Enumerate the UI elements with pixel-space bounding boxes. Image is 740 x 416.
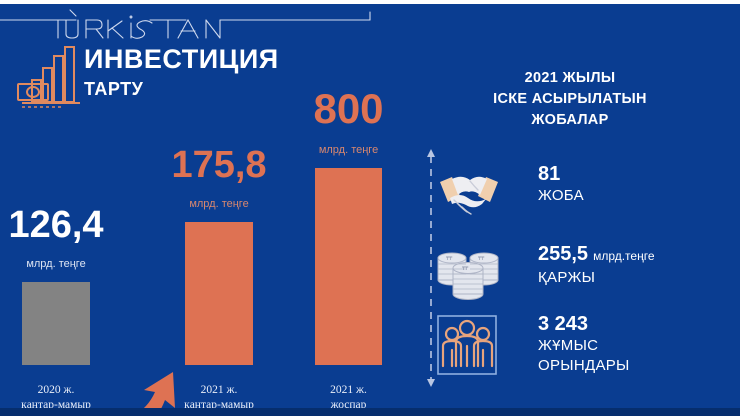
panel-title: 2021 ЖЫЛЫ ІСКЕ АСЫРЫЛАТЫН ЖОБАЛАР [400,68,740,131]
page-title: ИНВЕСТИЦИЯ ТАРТУ [84,44,279,101]
stat-label: ЖОБА [538,186,584,206]
people-group-icon [430,310,508,378]
panel-title-line-2: ІСКЕ АСЫРЫЛАТЫН [493,91,647,107]
svg-text:₸₸: ₸₸ [478,256,485,262]
turkistan-wordmark [0,4,400,40]
bar-value-label: 126,4 [8,204,103,247]
projects-panel: 2021 ЖЫЛЫ ІСКЕ АСЫРЫЛАТЫН ЖОБАЛАР [400,0,740,416]
stat-workplaces: 3 243 ЖҰМЫС ОРЫНДАРЫ [430,310,740,382]
coins-stack-icon: ₸₸₸₸₸₸ [430,240,508,308]
bar-rect [185,222,253,365]
handshake-icon [430,160,508,228]
investment-bar-chart: 126,4 млрд. теңге 2020 ж. қаңтар-мамыр 1… [0,120,400,416]
infographic-slide: ИНВЕСТИЦИЯ ТАРТУ 126,4 млрд. теңге 2020 … [0,0,740,416]
bar-value-label: 175,8 [171,144,266,187]
stat-number: 255,5 [538,242,588,266]
panel-title-line-3: ЖОБАЛАР [531,112,608,128]
svg-text:₸₸: ₸₸ [446,256,453,262]
bar-rect [315,168,382,365]
svg-text:₸₸: ₸₸ [462,266,469,272]
bar-category-line-1: 2021 ж. [201,384,238,396]
bar-unit-label: млрд. теңге [319,144,378,156]
growing-bars-money-icon [12,42,86,112]
stat-label-line-1: ЖҰМЫС [538,337,598,354]
bar-category-line-1: 2021 ж. [330,384,367,396]
stat-number-row: 3 243 [538,312,630,336]
stat-number-row: 255,5млрд.теңге [538,242,655,268]
stat-text: 3 243 ЖҰМЫС ОРЫНДАРЫ [538,312,630,376]
stat-projects: 81 ЖОБА [430,160,740,232]
stat-label-line-2: ОРЫНДАРЫ [538,357,630,374]
stat-text: 81 ЖОБА [538,162,584,206]
stat-number: 81 [538,162,560,186]
stat-number: 3 243 [538,312,588,336]
bottom-strip [0,408,740,416]
stat-financing: ₸₸₸₸₸₸ 255,5млрд.теңге ҚАРЖЫ [430,240,740,312]
bar-value-label: 800 [313,85,383,133]
bar-unit-label: млрд. теңге [26,258,85,270]
stat-number-row: 81 [538,162,584,186]
bar-rect [22,282,90,365]
bar-unit-label: млрд. теңге [189,198,248,210]
bar-category-line-1: 2020 ж. [38,384,75,396]
panel-title-line-1: 2021 ЖЫЛЫ [525,70,616,86]
stat-text: 255,5млрд.теңге ҚАРЖЫ [538,242,655,288]
stat-label: ЖҰМЫС ОРЫНДАРЫ [538,336,630,376]
title-line-2: ТАРТУ [84,77,279,101]
stat-number-unit: млрд.теңге [593,244,654,268]
stat-label: ҚАРЖЫ [538,268,655,288]
title-line-1: ИНВЕСТИЦИЯ [84,44,279,74]
